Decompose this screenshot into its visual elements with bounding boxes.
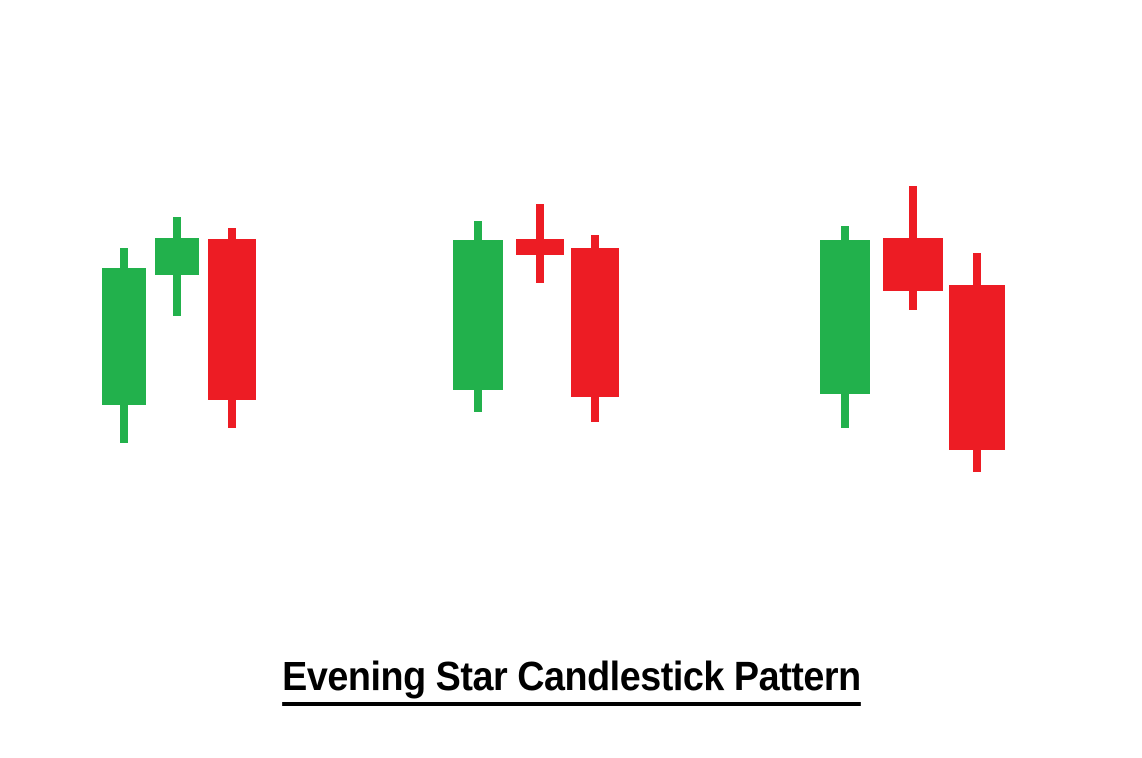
page-title: Evening Star Candlestick Pattern (0, 653, 1142, 706)
candlestick-variant-2-3[interactable] (571, 235, 619, 422)
candle-body-bearish (883, 238, 943, 291)
candle-body-bullish (453, 240, 503, 390)
page-title-text: Evening Star Candlestick Pattern (282, 653, 861, 706)
candlestick-variant-3-3[interactable] (949, 253, 1005, 472)
candle-body-bearish (516, 239, 564, 255)
candlestick-figure: Evening Star Candlestick Pattern (0, 0, 1142, 758)
candlestick-chart-canvas (0, 0, 1142, 758)
candle-body-bullish (820, 240, 870, 394)
candle-body-bearish (208, 239, 256, 400)
candle-body-bullish (155, 238, 199, 275)
candle-body-bullish (102, 268, 146, 405)
candlestick-variant-1-3[interactable] (208, 228, 256, 428)
candle-body-bearish (949, 285, 1005, 450)
candlestick-variant-2-1[interactable] (453, 221, 503, 412)
candle-body-bearish (571, 248, 619, 397)
